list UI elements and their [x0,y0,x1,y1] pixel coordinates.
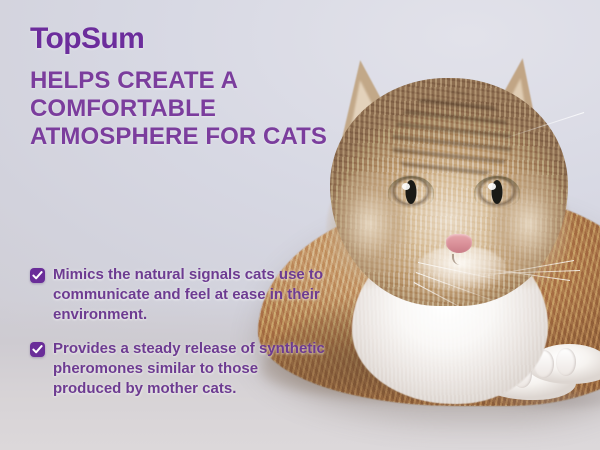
headline-line-1: HELPS CREATE A [30,67,360,95]
cat-eye-left [388,176,434,208]
brand-logo: TopSum [30,24,360,54]
check-badge-icon [30,342,45,357]
cat-eye-right [474,176,520,208]
list-item: Provides a steady release of synthetic p… [30,339,330,399]
cat-toe [556,348,576,376]
benefit-text: Provides a steady release of synthetic p… [53,339,330,399]
cat-eye-glint-left [402,183,410,190]
cat-eye-glint-right [488,183,496,190]
list-item: Mimics the natural signals cats use to c… [30,265,330,325]
benefit-list: Mimics the natural signals cats use to c… [30,265,330,413]
check-badge-icon [30,268,45,283]
page-title: HELPS CREATE A COMFORTABLE ATMOSPHERE FO… [30,67,360,151]
headline-line-2: COMFORTABLE [30,95,360,123]
promo-poster: TopSum HELPS CREATE A COMFORTABLE ATMOSP… [0,0,600,450]
headline-line-3: ATMOSPHERE FOR CATS [30,123,360,151]
benefit-text: Mimics the natural signals cats use to c… [53,265,330,325]
